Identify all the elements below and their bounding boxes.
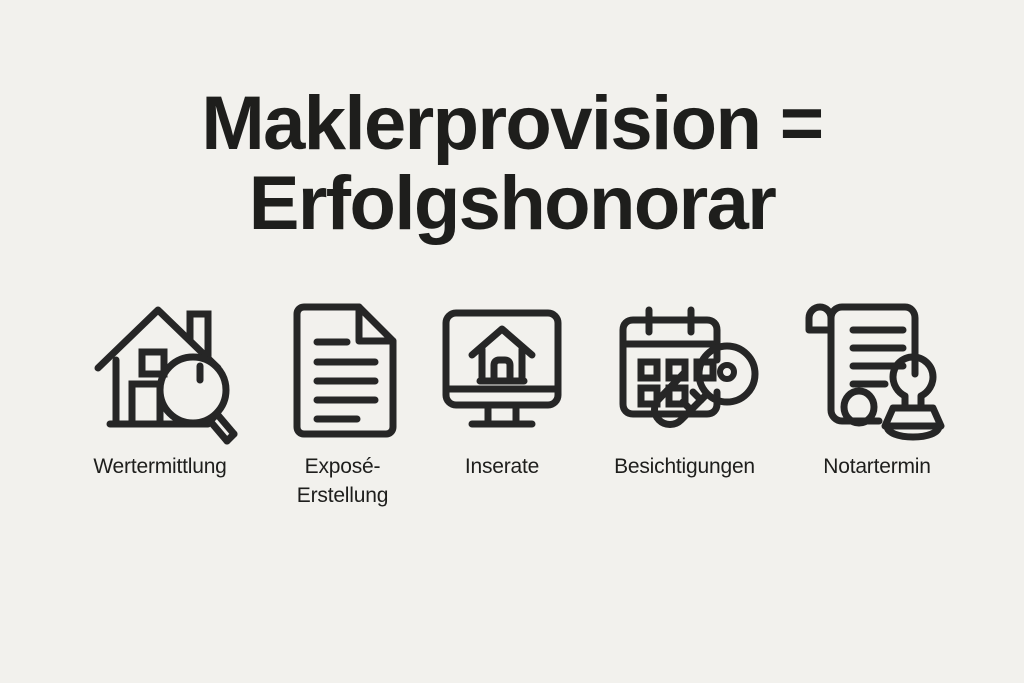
step-label: Exposé- Erstellung	[297, 452, 388, 510]
step-label: Inserate	[465, 452, 539, 481]
document-icon	[283, 300, 403, 440]
process-steps: Wertermittlung Exposé- Erstellung	[62, 300, 962, 510]
calendar-key-icon	[605, 300, 765, 440]
step-expose-erstellung: Exposé- Erstellung	[268, 300, 418, 510]
step-wertermittlung: Wertermittlung	[62, 300, 258, 481]
monitor-house-icon	[432, 300, 572, 440]
page-title: Maklerprovision = Erfolgshonorar	[0, 84, 1024, 244]
step-label: Notartermin	[823, 452, 931, 481]
infographic-canvas: Maklerprovision = Erfolgshonorar	[0, 0, 1024, 683]
house-magnifier-icon	[80, 300, 240, 440]
step-inserate: Inserate	[427, 300, 577, 481]
title-line-1: Maklerprovision =	[0, 84, 1024, 164]
step-label: Besichtigungen	[614, 452, 755, 481]
contract-stamp-icon	[797, 300, 957, 440]
step-besichtigungen: Besichtigungen	[587, 300, 783, 481]
step-notartermin: Notartermin	[792, 300, 962, 481]
title-line-2: Erfolgshonorar	[0, 164, 1024, 244]
step-label: Wertermittlung	[93, 452, 226, 481]
